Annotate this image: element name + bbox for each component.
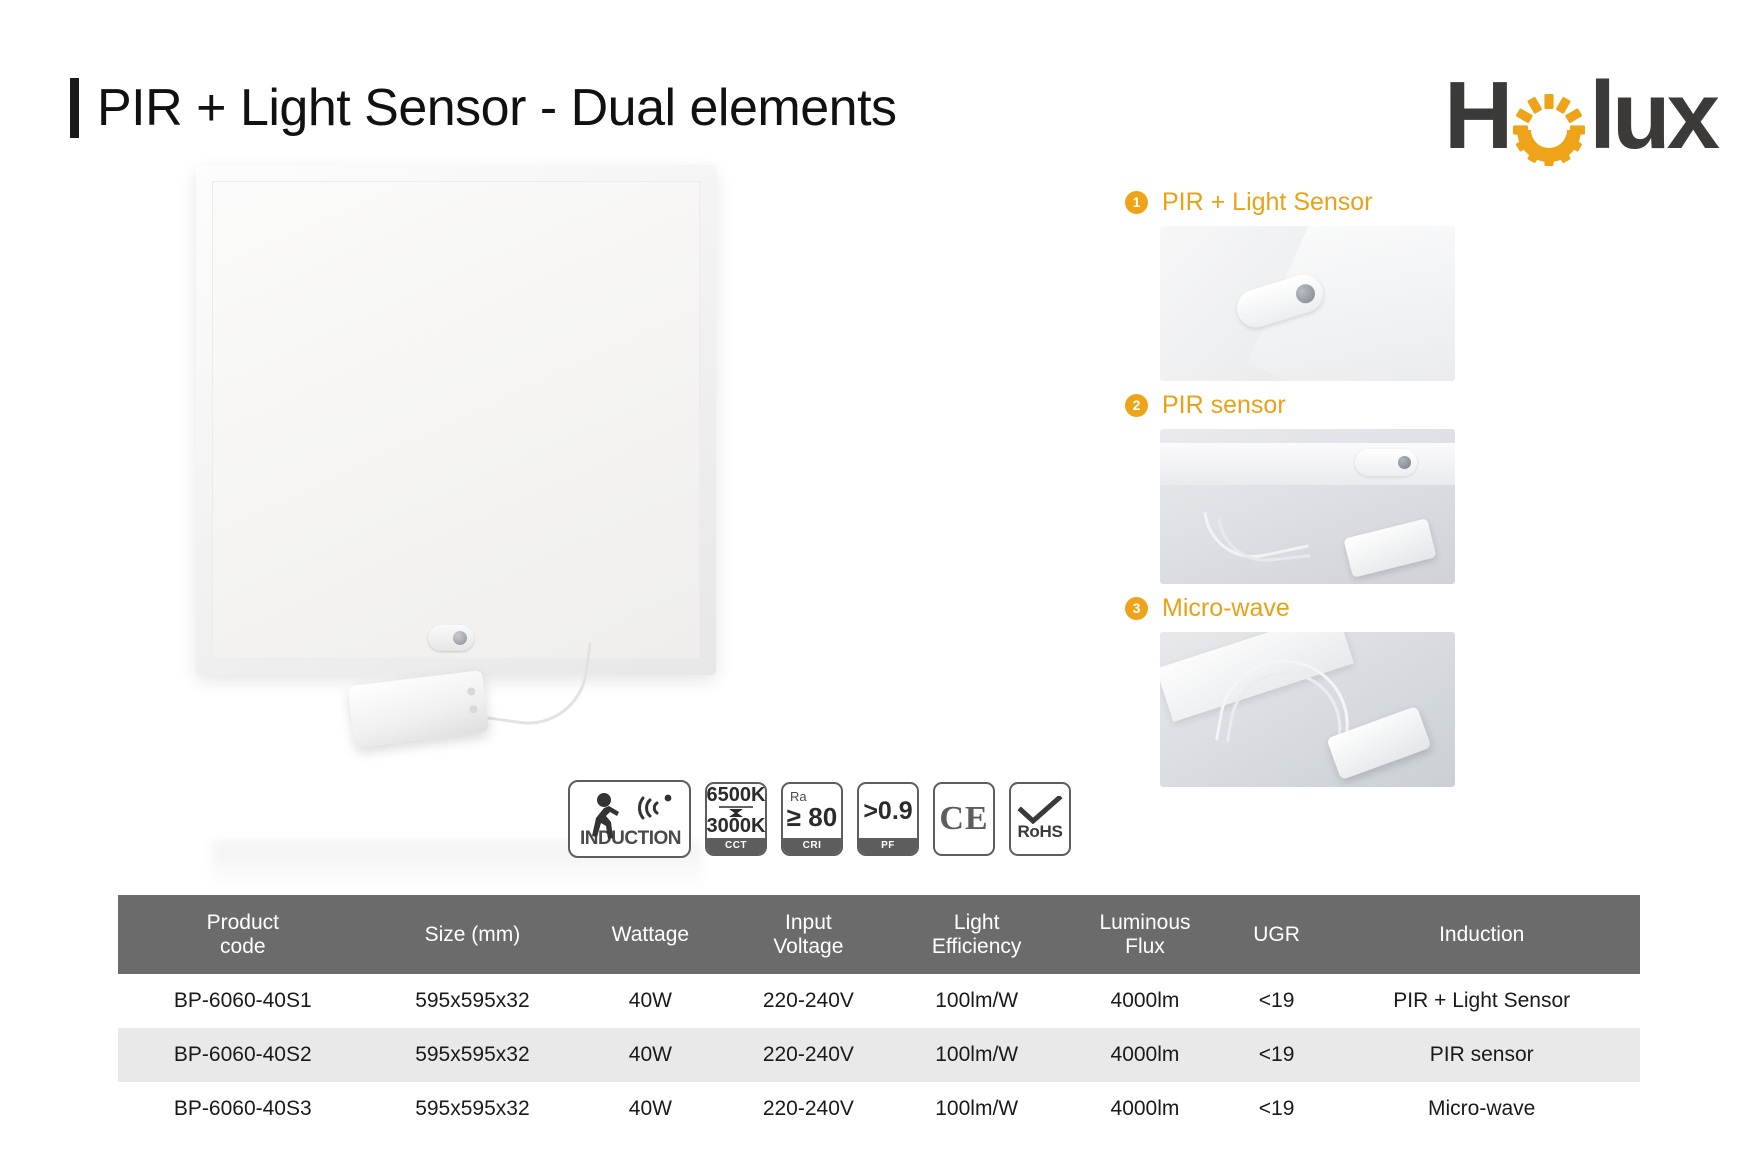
callout-list: 1 PIR + Light Sensor 2 PIR sensor 3 <box>1125 186 1725 795</box>
panel-sensor-module <box>428 625 474 651</box>
column-header-induction: Induction <box>1323 895 1640 974</box>
product-photo <box>196 165 716 675</box>
ce-mark-icon: CE <box>939 800 988 838</box>
table-cell-3: 220-240V <box>724 974 894 1028</box>
table-cell-4: 100lm/W <box>893 1028 1060 1082</box>
cri-value: ≥ 80 <box>787 803 837 832</box>
panel-diffuser <box>212 181 700 659</box>
table-cell-2: 40W <box>577 1028 723 1082</box>
table-cell-2: 40W <box>577 1082 723 1136</box>
pf-badge: >0.9 PF <box>857 782 919 856</box>
table-cell-4: 100lm/W <box>893 1082 1060 1136</box>
table-cell-0: BP-6060-40S2 <box>118 1028 368 1082</box>
table-cell-1: 595x595x32 <box>368 1028 578 1082</box>
column-header-ugr: UGR <box>1230 895 1324 974</box>
datasheet-page: PIR + Light Sensor - Dual elements H <box>0 0 1754 1157</box>
title-accent-bar <box>70 78 79 138</box>
sunburst-o-icon <box>1511 92 1587 168</box>
pir-sensor-photo <box>1160 429 1455 584</box>
cri-body: Ra ≥ 80 <box>783 784 841 838</box>
callout-1-head: 1 PIR + Light Sensor <box>1125 186 1725 218</box>
column-header-product-code: Productcode <box>118 895 368 974</box>
callout-3-number: 3 <box>1125 597 1148 620</box>
callout-1: 1 PIR + Light Sensor <box>1125 186 1725 381</box>
pf-value: >0.9 <box>863 797 912 826</box>
column-header-light-efficiency: LightEfficiency <box>893 895 1060 974</box>
column-header-size: Size (mm) <box>368 895 578 974</box>
induction-badge: INDUCTION <box>568 780 691 858</box>
cct-body: 6500K 3000K <box>707 784 765 838</box>
ce-badge: CE <box>933 782 995 856</box>
cct-bottom-value: 3000K <box>707 816 766 837</box>
cct-top-value: 6500K <box>707 785 766 806</box>
micro-wave-sensor-photo <box>1160 632 1455 787</box>
rohs-badge: RoHS <box>1009 782 1071 856</box>
page-title: PIR + Light Sensor - Dual elements <box>70 78 897 138</box>
led-driver-box <box>348 670 490 748</box>
table-cell-6: <19 <box>1230 1028 1324 1082</box>
title-text: PIR + Light Sensor - Dual elements <box>97 78 897 138</box>
table-body: BP-6060-40S1595x595x3240W220-240V100lm/W… <box>118 974 1640 1136</box>
table-cell-1: 595x595x32 <box>368 974 578 1028</box>
cct-footer-label: CCT <box>707 838 765 854</box>
logo-text-before: H <box>1444 68 1509 164</box>
callout-2-head: 2 PIR sensor <box>1125 389 1725 421</box>
panel-frame <box>196 165 716 675</box>
callout-3-label: Micro-wave <box>1162 594 1290 623</box>
logo-wordmark: H <box>1444 68 1716 164</box>
checkmark-icon <box>1017 796 1063 824</box>
cri-footer-label: CRI <box>783 838 841 854</box>
cct-divider-icon <box>717 806 755 816</box>
table-row: BP-6060-40S2595x595x3240W220-240V100lm/W… <box>118 1028 1640 1082</box>
specification-table: Productcode Size (mm) Wattage InputVolta… <box>118 895 1640 1136</box>
table-cell-5: 4000lm <box>1060 1082 1230 1136</box>
pir-light-sensor-photo <box>1160 226 1455 381</box>
table-cell-0: BP-6060-40S1 <box>118 974 368 1028</box>
callout-1-number: 1 <box>1125 191 1148 214</box>
table-header-row: Productcode Size (mm) Wattage InputVolta… <box>118 895 1640 974</box>
table-cell-5: 4000lm <box>1060 974 1230 1028</box>
table-cell-3: 220-240V <box>724 1028 894 1082</box>
cct-badge: 6500K 3000K CCT <box>705 782 767 856</box>
logo-text-after: lux <box>1589 68 1716 164</box>
table-cell-0: BP-6060-40S3 <box>118 1082 368 1136</box>
callout-3-head: 3 Micro-wave <box>1125 592 1725 624</box>
pf-body: >0.9 <box>859 784 917 838</box>
driver-shape <box>1343 518 1436 578</box>
table-cell-6: <19 <box>1230 974 1324 1028</box>
table-cell-1: 595x595x32 <box>368 1082 578 1136</box>
pf-footer-label: PF <box>859 838 917 854</box>
callout-3: 3 Micro-wave <box>1125 592 1725 787</box>
sensor-module-shape <box>1355 449 1417 476</box>
sensor-module-shape <box>1232 270 1327 332</box>
table-cell-2: 40W <box>577 974 723 1028</box>
callout-2-label: PIR sensor <box>1162 391 1286 420</box>
signal-waves-icon <box>635 790 677 829</box>
walking-person-icon <box>582 792 626 847</box>
table-cell-7: PIR + Light Sensor <box>1323 974 1640 1028</box>
cri-badge: Ra ≥ 80 CRI <box>781 782 843 856</box>
wire-shape-2 <box>1218 510 1311 567</box>
table-cell-7: PIR sensor <box>1323 1028 1640 1082</box>
callout-2-number: 2 <box>1125 394 1148 417</box>
rohs-label: RoHS <box>1017 822 1062 842</box>
table-cell-5: 4000lm <box>1060 1028 1230 1082</box>
column-header-input-voltage: InputVoltage <box>724 895 894 974</box>
table-row: BP-6060-40S3595x595x3240W220-240V100lm/W… <box>118 1082 1640 1136</box>
callout-1-label: PIR + Light Sensor <box>1162 188 1373 217</box>
badge-row: INDUCTION 6500K 3000K CCT Ra ≥ 80 <box>568 780 1071 858</box>
table-cell-7: Micro-wave <box>1323 1082 1640 1136</box>
column-header-luminous-flux: LuminousFlux <box>1060 895 1230 974</box>
table-cell-4: 100lm/W <box>893 974 1060 1028</box>
brand-logo: H <box>1444 62 1716 170</box>
rohs-content: RoHS <box>1017 796 1063 842</box>
table-row: BP-6060-40S1595x595x3240W220-240V100lm/W… <box>118 974 1640 1028</box>
column-header-wattage: Wattage <box>577 895 723 974</box>
table-cell-3: 220-240V <box>724 1082 894 1136</box>
table-header: Productcode Size (mm) Wattage InputVolta… <box>118 895 1640 974</box>
table-cell-6: <19 <box>1230 1082 1324 1136</box>
callout-2: 2 PIR sensor <box>1125 389 1725 584</box>
